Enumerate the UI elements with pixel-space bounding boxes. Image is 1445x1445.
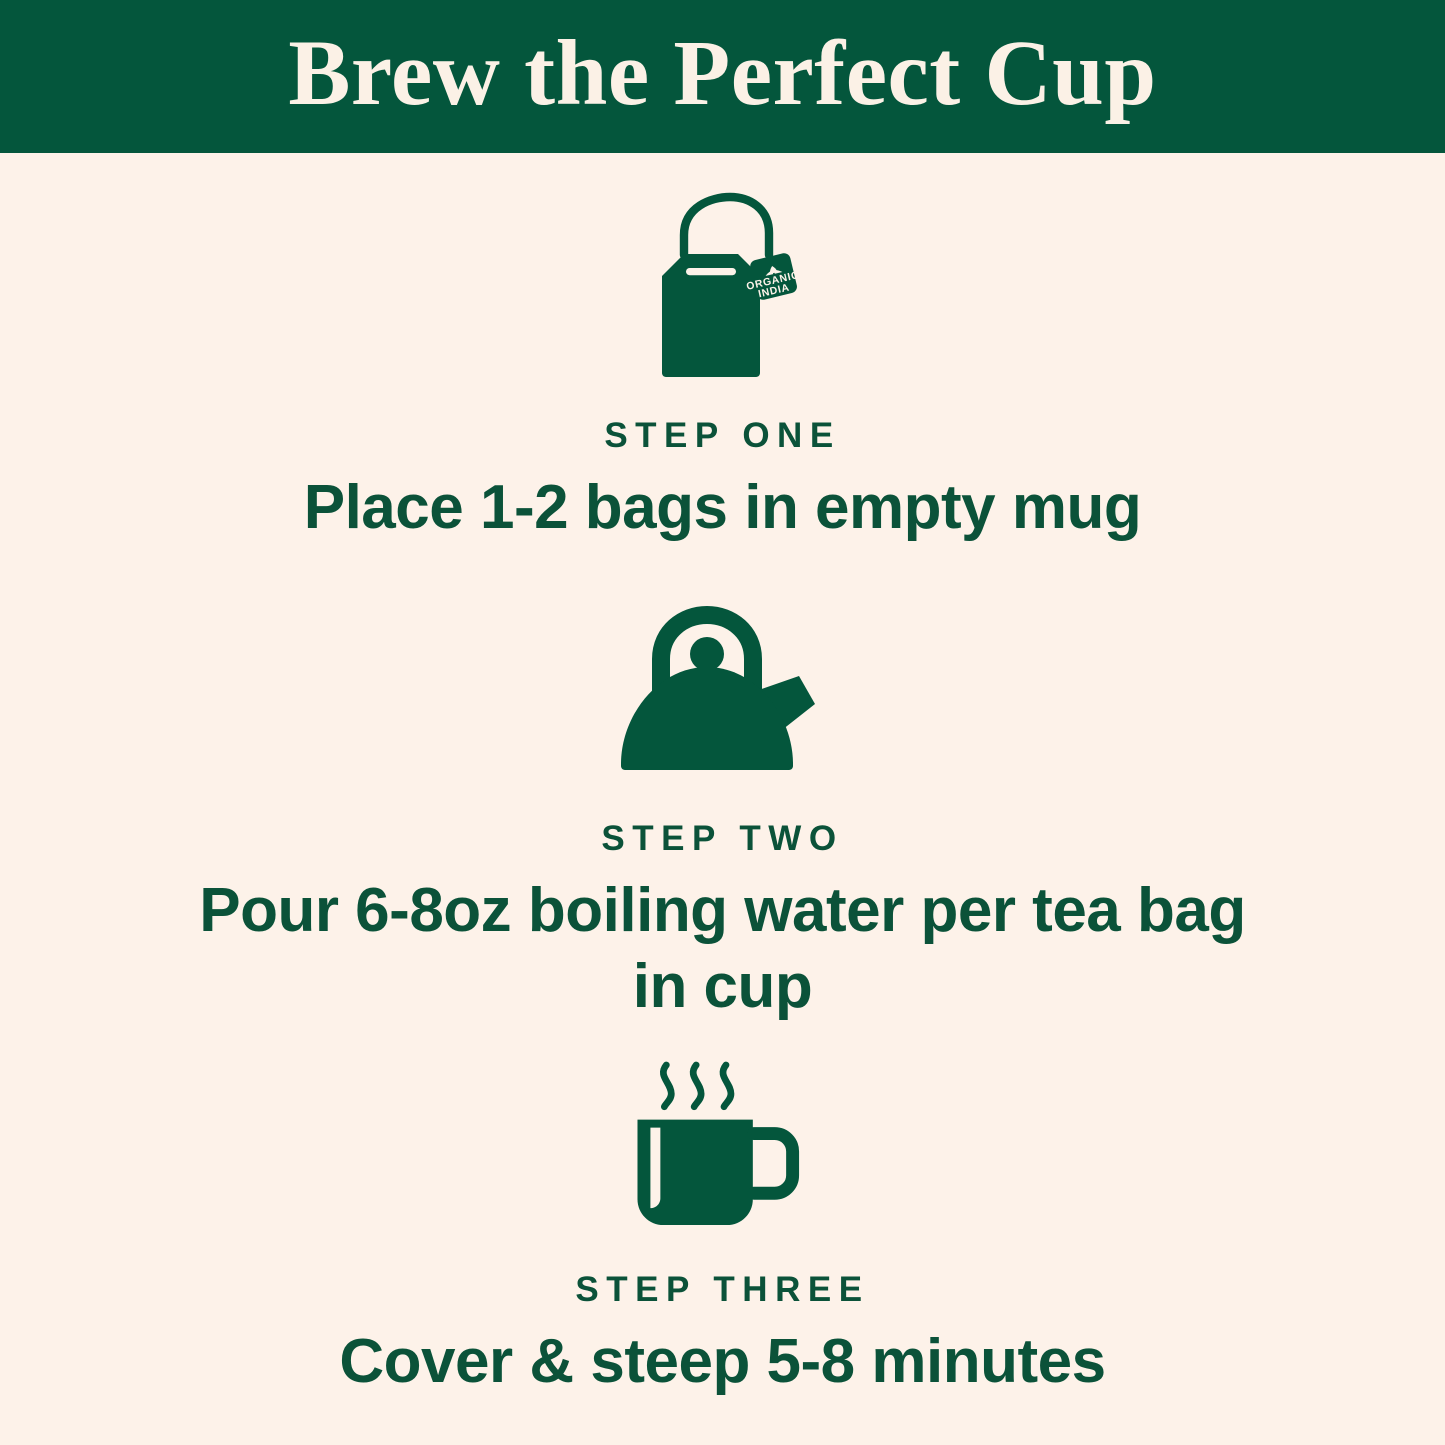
step-three-text: Cover & steep 5-8 minutes: [339, 1324, 1105, 1400]
step-two-text: Pour 6-8oz boiling water per tea bag in …: [193, 873, 1253, 1026]
steps-list: ORGANIC INDIA STEP ONE Place 1-2 bags in…: [0, 153, 1445, 1445]
step-item-two: STEP TWO Pour 6-8oz boiling water per te…: [0, 576, 1445, 1026]
tea-bag-icon: ORGANIC INDIA: [623, 189, 823, 379]
step-one-label: STEP ONE: [604, 416, 840, 456]
step-three-label: STEP THREE: [575, 1270, 869, 1310]
tea-bag-icon-wrap: ORGANIC INDIA: [623, 189, 823, 379]
steam-wisps: [663, 1065, 731, 1107]
step-one-text: Place 1-2 bags in empty mug: [304, 470, 1142, 546]
step-two-label: STEP TWO: [601, 819, 843, 859]
mug-icon-wrap: [623, 1058, 823, 1233]
kettle-icon: [608, 599, 838, 779]
step-item-three: STEP THREE Cover & steep 5-8 minutes: [0, 1025, 1445, 1445]
page-title: Brew the Perfect Cup: [288, 27, 1156, 126]
brewing-instructions-card: Brew the Perfect Cup: [0, 0, 1445, 1445]
kettle-icon-wrap: [608, 599, 838, 779]
header-banner: Brew the Perfect Cup: [0, 0, 1445, 153]
step-item-one: ORGANIC INDIA STEP ONE Place 1-2 bags in…: [0, 153, 1445, 576]
mug-steam-icon: [623, 1058, 823, 1233]
